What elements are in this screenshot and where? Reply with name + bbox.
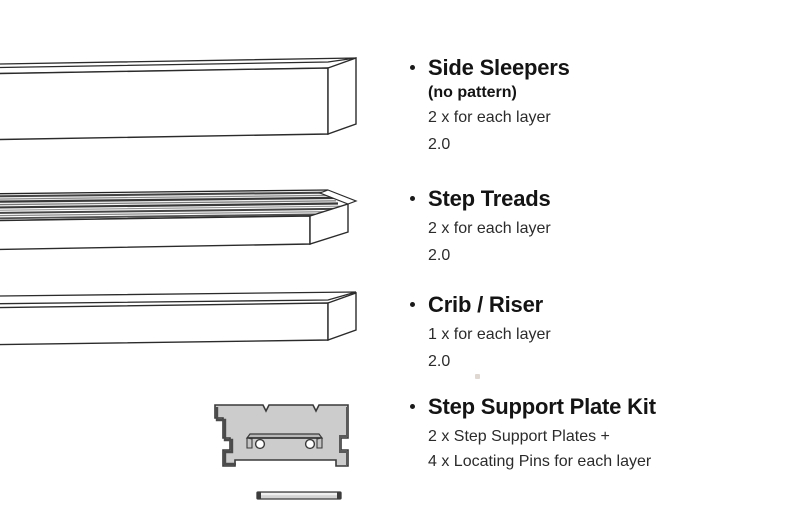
list-item-crib-riser: Crib / Riser 1 x for each layer 2.0 — [405, 292, 800, 372]
bullet-icon — [410, 196, 415, 201]
part-size: 4 x Locating Pins for each layer — [405, 451, 800, 472]
parts-list-page: Side Sleepers (no pattern) 2 x for each … — [0, 0, 800, 528]
illustration-crib-riser — [0, 290, 370, 370]
part-title: Step Support Plate Kit — [428, 394, 800, 420]
list-item-header: Crib / Riser — [405, 292, 800, 318]
list-item-header: Side Sleepers — [405, 55, 800, 81]
list-item-header: Step Support Plate Kit — [405, 394, 800, 420]
part-title: Side Sleepers — [428, 55, 800, 81]
illustration-side-sleepers — [0, 44, 370, 174]
side-sleeper-beam-icon — [0, 44, 370, 174]
part-quantity: 2 x for each layer — [405, 218, 800, 239]
part-title: Step Treads — [428, 186, 800, 212]
list-item-header: Step Treads — [405, 186, 800, 212]
part-size: 2.0 — [405, 134, 800, 155]
bullet-icon — [410, 302, 415, 307]
part-title: Crib / Riser — [428, 292, 800, 318]
page-artifact-mark — [475, 374, 480, 379]
part-quantity: 2 x for each layer — [405, 107, 800, 128]
list-item-step-treads: Step Treads 2 x for each layer 2.0 — [405, 186, 800, 266]
part-subtitle: (no pattern) — [405, 82, 800, 103]
list-item-step-support-plate-kit: Step Support Plate Kit 2 x Step Support … — [405, 394, 800, 472]
crib-riser-beam-icon — [0, 290, 370, 370]
bullet-icon — [410, 65, 415, 70]
bullet-icon — [410, 404, 415, 409]
step-tread-board-icon — [0, 188, 370, 278]
locating-pin-icon — [257, 492, 341, 499]
part-quantity: 2 x Step Support Plates + — [405, 426, 800, 447]
part-size: 2.0 — [405, 245, 800, 266]
part-size: 2.0 — [405, 351, 800, 372]
step-support-plate-icon — [205, 398, 380, 510]
illustration-step-treads — [0, 188, 370, 278]
illustration-step-support-plate-kit — [205, 398, 380, 510]
list-item-side-sleepers: Side Sleepers (no pattern) 2 x for each … — [405, 55, 800, 155]
part-quantity: 1 x for each layer — [405, 324, 800, 345]
